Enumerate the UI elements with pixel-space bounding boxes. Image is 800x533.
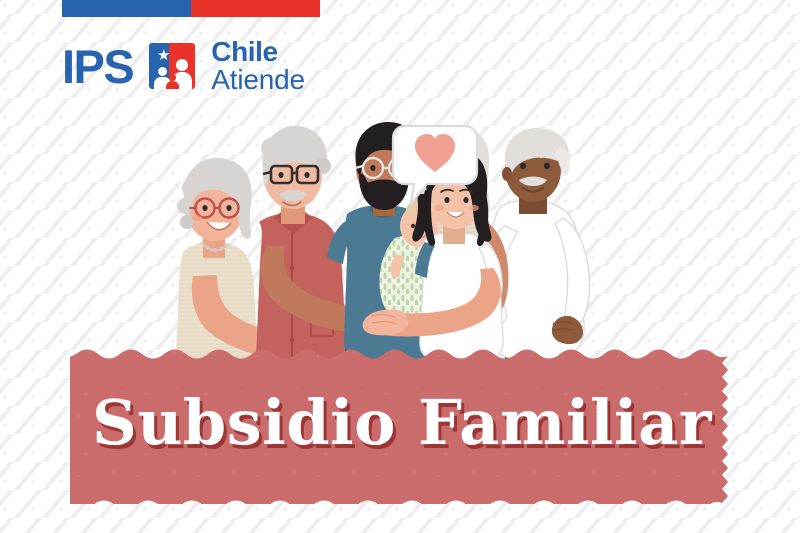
chileatiende-family-star-icon: ★ <box>149 43 195 89</box>
chile-flag-bar <box>62 0 320 17</box>
ips-wordmark: IPS <box>62 43 133 90</box>
chileatiende-line-chile: Chile <box>211 38 305 66</box>
flag-bar-red-half <box>191 0 320 17</box>
banner-title: Subsidio Familiar <box>70 344 734 504</box>
poster-canvas: IPS ★ Chile Atiende <box>0 0 800 533</box>
zigzag-ribbon-banner: Subsidio Familiar <box>70 344 734 504</box>
toddler-body-shape <box>166 81 179 89</box>
flag-bar-blue-half <box>62 0 191 17</box>
chileatiende-line-atiende: Atiende <box>211 66 305 94</box>
brand-logo[interactable]: IPS ★ Chile Atiende <box>62 38 305 94</box>
star-icon: ★ <box>156 48 171 63</box>
chileatiende-wordmark: Chile Atiende <box>211 38 305 94</box>
